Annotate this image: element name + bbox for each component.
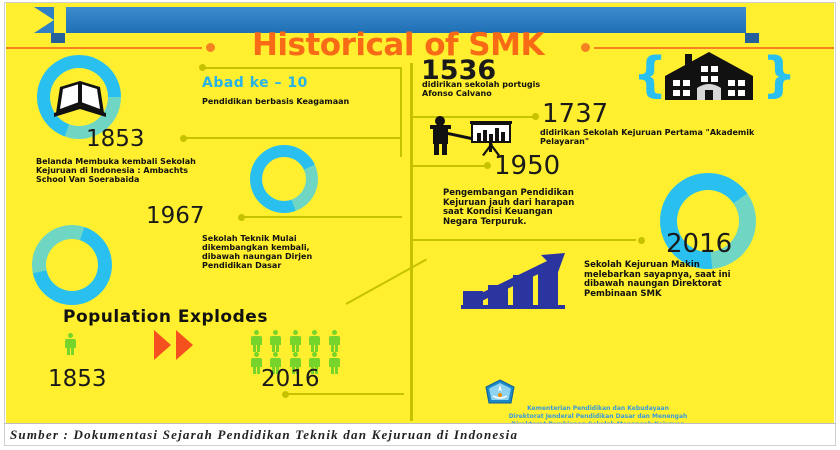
connector-2016-dot [638, 237, 645, 244]
year-1737: 1737 [542, 99, 608, 129]
connector-2016 [410, 239, 636, 241]
ministry-text-block: Kementerian Pendidikan dan Kebudayaan Di… [438, 405, 758, 423]
population-heading: Population Explodes [63, 308, 268, 327]
person-icon [309, 330, 320, 352]
open-book-icon [52, 69, 108, 121]
connector-1853 [186, 137, 402, 139]
banner-right-tail [745, 33, 759, 43]
person-icon [329, 330, 340, 352]
connector-1737-dot [532, 113, 539, 120]
person-icon [65, 333, 76, 355]
population-1853-icons [63, 333, 93, 359]
connector-1967 [244, 216, 402, 218]
year-1853: 1853 [86, 126, 145, 152]
connector-curve [346, 259, 427, 305]
desc-1853: Belanda Membuka kembali Sekolah Kejuruan… [36, 158, 216, 185]
infographic-poster: Historical of SMK Abad ke – 10 Pendidika… [0, 0, 840, 450]
person-icon [290, 330, 301, 352]
connector-1950 [410, 165, 488, 167]
growth-bar-chart-icon [461, 251, 571, 309]
connector-1950-dot [484, 162, 491, 169]
source-line: Sumber : Dokumentasi Sejarah Pendidikan … [10, 427, 830, 443]
double-chevron-right-icon [154, 330, 171, 360]
connector-abad-dot [199, 64, 206, 71]
person-icon [329, 352, 340, 374]
ministry-line-1: Kementerian Pendidikan dan Kebudayaan [438, 405, 758, 413]
connector-abad [202, 67, 402, 69]
ministry-line-2: Direktorat Jenderal Pendidikan Dasar dan… [438, 413, 758, 421]
banner-left-notch [34, 7, 54, 33]
year-2016: 2016 [666, 229, 732, 259]
title-dot-left [206, 43, 215, 52]
abad-description: Pendidikan berbasis Keagamaan [202, 98, 352, 107]
desc-1950: Pengembangan Pendidikan Kejuruan jauh da… [443, 189, 583, 227]
connector-bottom [288, 393, 404, 395]
banner-left-tail [51, 33, 65, 43]
source-divider [4, 423, 836, 424]
school-building-icon [661, 50, 757, 102]
desc-1536: didirikan sekolah portugis Afonso Calvan… [422, 81, 562, 99]
population-from-year: 1853 [48, 366, 107, 392]
double-chevron-right-icon-2 [176, 330, 193, 360]
title-rule-left [6, 47, 202, 49]
connector-abad-v [400, 67, 402, 157]
population-2016-icons [249, 330, 359, 370]
abad-heading: Abad ke – 10 [202, 75, 308, 91]
tut-wuri-handayani-logo [484, 379, 516, 405]
donut-1853 [250, 145, 318, 213]
person-icon [251, 330, 262, 352]
year-1967: 1967 [146, 203, 205, 229]
year-1950: 1950 [494, 151, 560, 181]
person-icon [270, 330, 281, 352]
page-title: Historical of SMK [218, 27, 578, 63]
desc-2016: Sekolah Kejuruan Makin melebarkan sayapn… [584, 261, 752, 299]
title-dot-right [581, 43, 590, 52]
poster-canvas: Historical of SMK Abad ke – 10 Pendidika… [6, 3, 834, 423]
title-rule-right [594, 47, 834, 49]
population-to-year: 2016 [261, 366, 320, 392]
desc-1737: didirikan Sekolah Kejuruan Pertama "Akad… [540, 129, 790, 147]
desc-1967: Sekolah Teknik Mulai dikembangkan kembal… [202, 235, 322, 271]
donut-1967 [32, 225, 112, 305]
brace-right-icon: } [762, 47, 796, 103]
